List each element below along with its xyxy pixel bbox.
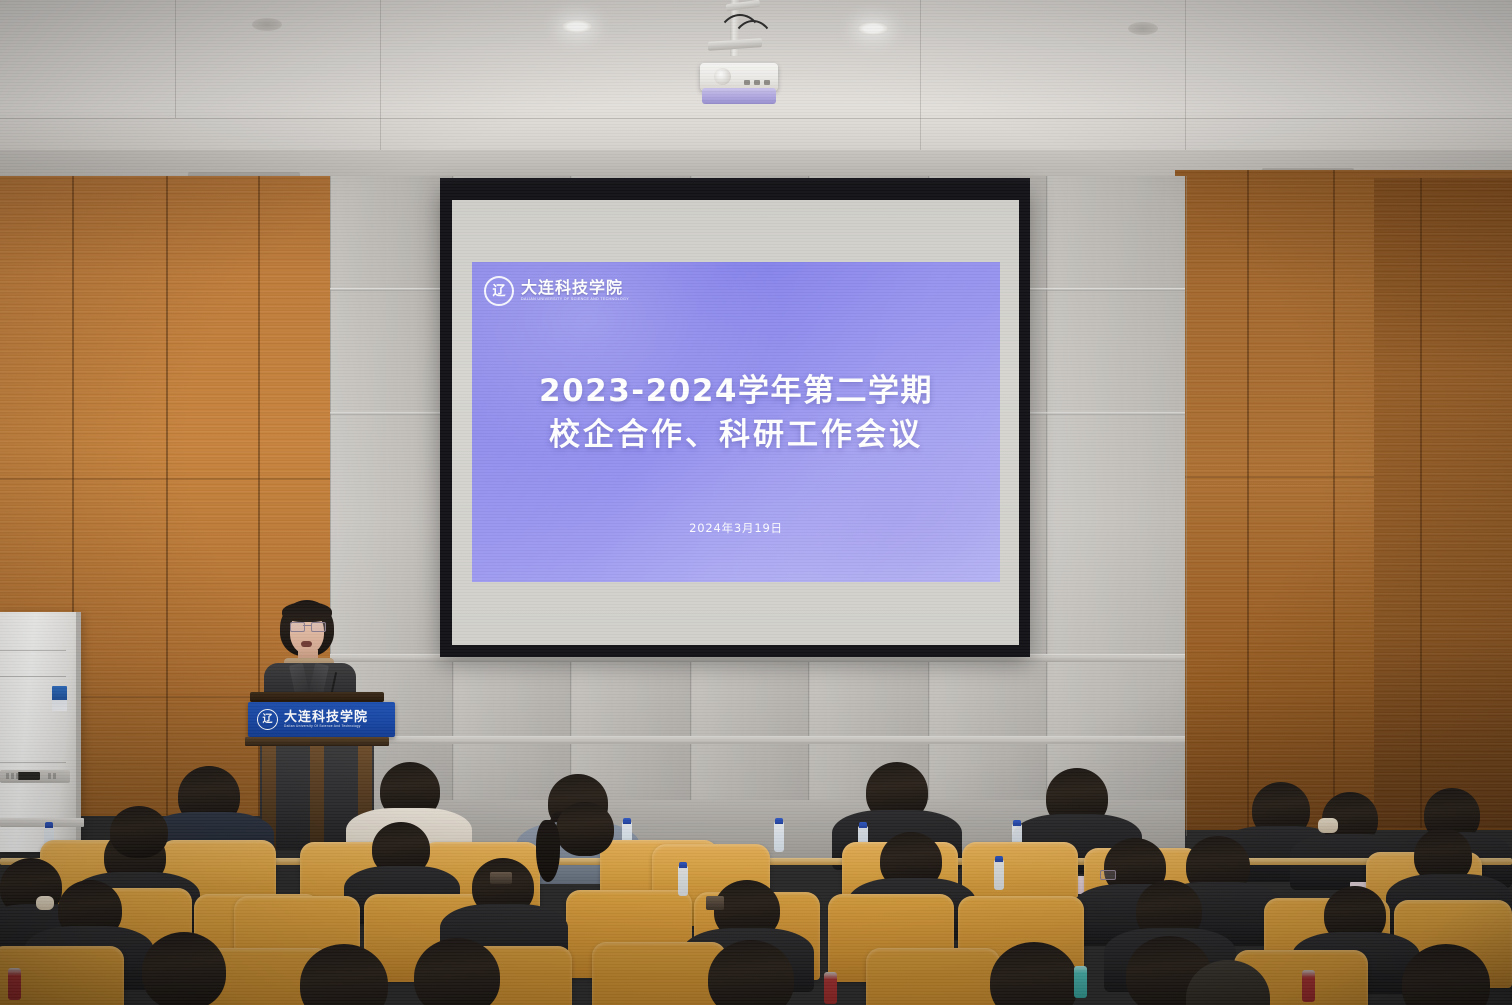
- water-bottle[interactable]: [678, 866, 688, 896]
- bottle-cap: [995, 856, 1003, 862]
- bottle-cap: [679, 862, 687, 868]
- hair-accessory: [1318, 818, 1338, 833]
- projector-port: [744, 80, 750, 85]
- ceiling-downlight: [1128, 22, 1158, 35]
- slide-university-logo: 辽 大连科技学院 DALIAN UNIVERSITY OF SCIENCE AN…: [484, 276, 629, 306]
- hair-accessory: [36, 896, 54, 910]
- hair-accessory: [490, 872, 512, 884]
- bottle-cap: [1013, 820, 1021, 826]
- bottle-cap: [623, 818, 631, 824]
- ceiling-downlight: [252, 18, 282, 31]
- thermos-bottle[interactable]: [1074, 966, 1087, 998]
- audience-glasses-icon: [1100, 870, 1116, 880]
- slide-title: 2023-2024学年第二学期 校企合作、科研工作会议: [472, 369, 1000, 457]
- bottle-cap: [859, 822, 867, 828]
- audience-head: [142, 932, 226, 1005]
- audience-area: ADVENTURE: [0, 700, 1512, 1005]
- speaker-mouth: [301, 641, 312, 647]
- thermos-bottle[interactable]: [824, 972, 837, 1004]
- audience-head: [556, 802, 614, 856]
- speaker-glasses-icon: [290, 622, 324, 630]
- projector-port: [754, 80, 760, 85]
- conference-hall-photo: 辽 大连科技学院 DALIAN UNIVERSITY OF SCIENCE AN…: [0, 0, 1512, 1005]
- thermos-bottle[interactable]: [1302, 970, 1315, 1002]
- projector-port: [764, 80, 770, 85]
- thermos-bottle[interactable]: [8, 968, 21, 1000]
- ceiling-downlight: [562, 20, 592, 33]
- slide-title-line-2: 校企合作、科研工作会议: [472, 413, 1000, 457]
- presentation-slide: 辽 大连科技学院 DALIAN UNIVERSITY OF SCIENCE AN…: [472, 262, 1000, 582]
- bottle-cap: [775, 818, 783, 824]
- projector-light-beam: [702, 88, 776, 104]
- audience-ponytail: [536, 820, 560, 882]
- auditorium-seat[interactable]: [866, 948, 1000, 1005]
- projector-lens-icon: [714, 68, 731, 85]
- bottle-cap: [45, 822, 53, 828]
- water-bottle[interactable]: [994, 860, 1004, 890]
- water-bottle[interactable]: [774, 822, 784, 852]
- slide-title-line-1: 2023-2024学年第二学期: [472, 369, 1000, 413]
- hair-accessory: [706, 896, 724, 910]
- audience-head: [110, 806, 168, 858]
- university-emblem-icon: 辽: [484, 276, 514, 306]
- projector: [686, 0, 796, 112]
- slide-date: 2024年3月19日: [472, 520, 1000, 536]
- speaker-fringe: [282, 602, 332, 622]
- ceiling-downlight: [858, 22, 888, 35]
- auditorium-seat[interactable]: [592, 942, 726, 1005]
- slide-logo-english-name: DALIAN UNIVERSITY OF SCIENCE AND TECHNOL…: [521, 297, 629, 302]
- slide-logo-chinese-name: 大连科技学院: [521, 280, 629, 297]
- projector-body: [700, 63, 778, 91]
